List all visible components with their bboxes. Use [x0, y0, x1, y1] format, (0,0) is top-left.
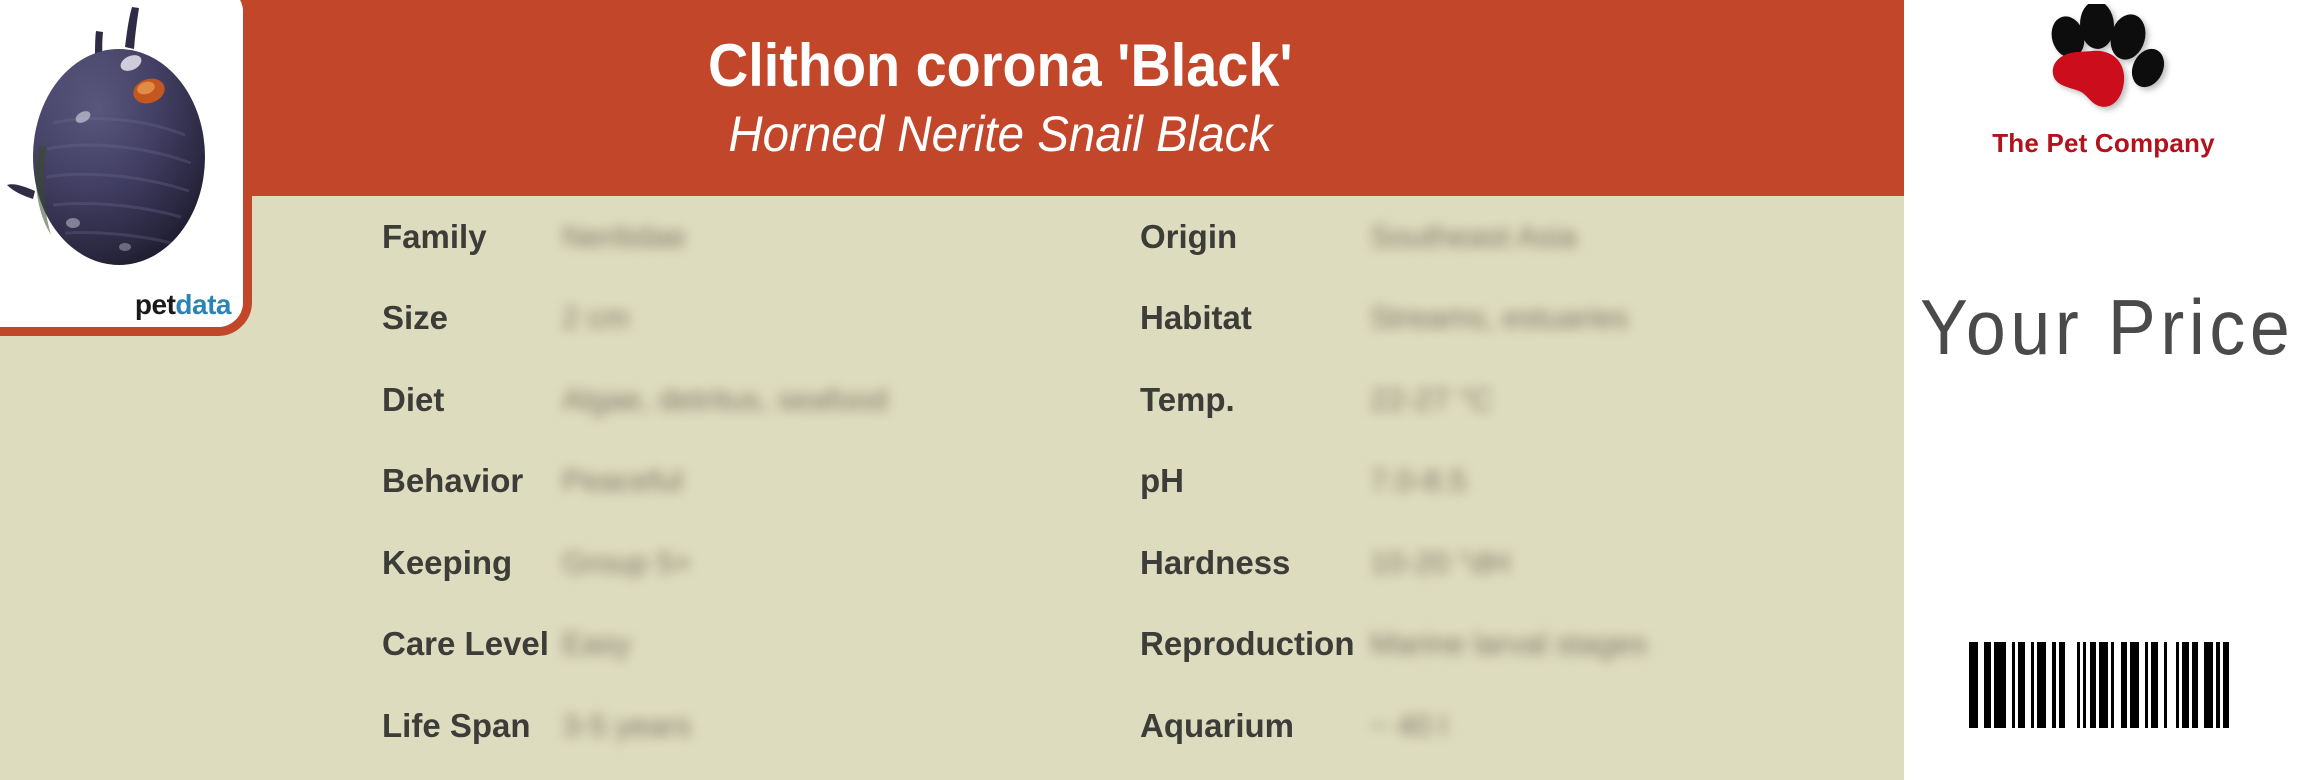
brand-logo: The Pet Company [1904, 4, 2303, 200]
barcode-gap [2229, 642, 2238, 728]
barcode-gap [2065, 642, 2077, 728]
barcode-bars [1969, 642, 2238, 728]
brand-name: The Pet Company [1992, 128, 2215, 159]
attribute-grid: Family Neritidae Size 2 cm Diet Algae, d… [0, 196, 1904, 780]
attribute-value-keeping: Group 5+ [562, 545, 692, 581]
attribute-row: Temp. 22-27 °C [1140, 359, 1880, 441]
attribute-row: Behavior Peaceful [382, 441, 1122, 523]
price-panel: The Pet Company Your Price [1904, 0, 2303, 780]
pet-info-card: Clithon corona 'Black' Horned Nerite Sna… [0, 0, 2303, 780]
your-price-label: Your Price [1920, 282, 2287, 373]
species-photo: petdata [0, 0, 243, 327]
barcode-bar [1969, 642, 1978, 728]
attribute-label-keeping: Keeping [382, 544, 562, 582]
attribute-value-behavior: Peaceful [562, 463, 683, 499]
attribute-value-origin: Southeast Asia [1370, 219, 1577, 255]
attribute-label-diet: Diet [382, 381, 562, 419]
barcode-bar [2130, 642, 2139, 728]
attribute-label-habitat: Habitat [1140, 299, 1370, 337]
attribute-row: Keeping Group 5+ [382, 522, 1122, 604]
petdata-watermark: petdata [135, 291, 231, 319]
attribute-label-care-level: Care Level [382, 625, 562, 663]
attribute-value-hardness: 10-20 °dH [1370, 545, 1510, 581]
attribute-row: Family Neritidae [382, 196, 1122, 278]
attribute-row: Origin Southeast Asia [1140, 196, 1880, 278]
attribute-label-hardness: Hardness [1140, 544, 1370, 582]
attribute-row: Hardness 10-20 °dH [1140, 522, 1880, 604]
attribute-value-reproduction: Marine larval stages [1370, 626, 1647, 662]
attribute-label-life-span: Life Span [382, 707, 562, 745]
attribute-row: Care Level Easy [382, 604, 1122, 686]
attribute-row: Diet Algae, detritus, seafood [382, 359, 1122, 441]
barcode-bar [1994, 642, 2006, 728]
species-info-panel: Clithon corona 'Black' Horned Nerite Sna… [0, 0, 1904, 780]
common-name: Horned Nerite Snail Black [728, 107, 1272, 162]
attribute-label-size: Size [382, 299, 562, 337]
attribute-label-reproduction: Reproduction [1140, 625, 1370, 663]
attribute-value-ph: 7.0-8.5 [1370, 463, 1467, 499]
scientific-name: Clithon corona 'Black' [708, 34, 1293, 97]
attribute-row: Size 2 cm [382, 278, 1122, 360]
attribute-row: Aquarium ~ 40 l [1140, 685, 1880, 767]
attribute-value-diet: Algae, detritus, seafood [562, 382, 888, 418]
attribute-label-ph: pH [1140, 462, 1370, 500]
attribute-row: Reproduction Marine larval stages [1140, 604, 1880, 686]
petdata-watermark-pet: pet [135, 289, 176, 320]
title-block: Clithon corona 'Black' Horned Nerite Sna… [360, 0, 1640, 196]
attribute-row: Life Span 3-5 years [382, 685, 1122, 767]
attribute-row: Habitat Streams, estuaries [1140, 278, 1880, 360]
attribute-value-habitat: Streams, estuaries [1370, 300, 1628, 336]
attribute-label-family: Family [382, 218, 562, 256]
barcode-gap [2167, 642, 2176, 728]
attribute-value-life-span: 3-5 years [562, 708, 691, 744]
snail-image-icon [0, 0, 229, 285]
attribute-label-origin: Origin [1140, 218, 1370, 256]
attribute-value-size: 2 cm [562, 300, 629, 336]
attribute-value-family: Neritidae [562, 219, 686, 255]
species-photo-frame: petdata [0, 0, 252, 336]
product-barcode [1904, 642, 2303, 728]
attribute-column-left: Family Neritidae Size 2 cm Diet Algae, d… [382, 196, 1122, 767]
attribute-label-behavior: Behavior [382, 462, 562, 500]
attribute-value-care-level: Easy [562, 626, 631, 662]
attribute-value-aquarium: ~ 40 l [1370, 708, 1447, 744]
attribute-value-temp: 22-27 °C [1370, 382, 1493, 418]
attribute-label-aquarium: Aquarium [1140, 707, 1370, 745]
attribute-row: pH 7.0-8.5 [1140, 441, 1880, 523]
attribute-column-right: Origin Southeast Asia Habitat Streams, e… [1140, 196, 1880, 767]
barcode-bar [2204, 642, 2213, 728]
paw-print-icon [2029, 4, 2179, 134]
barcode-bar [2037, 642, 2046, 728]
petdata-watermark-data: data [175, 289, 231, 320]
barcode-bar [2099, 642, 2108, 728]
attribute-label-temp: Temp. [1140, 381, 1370, 419]
